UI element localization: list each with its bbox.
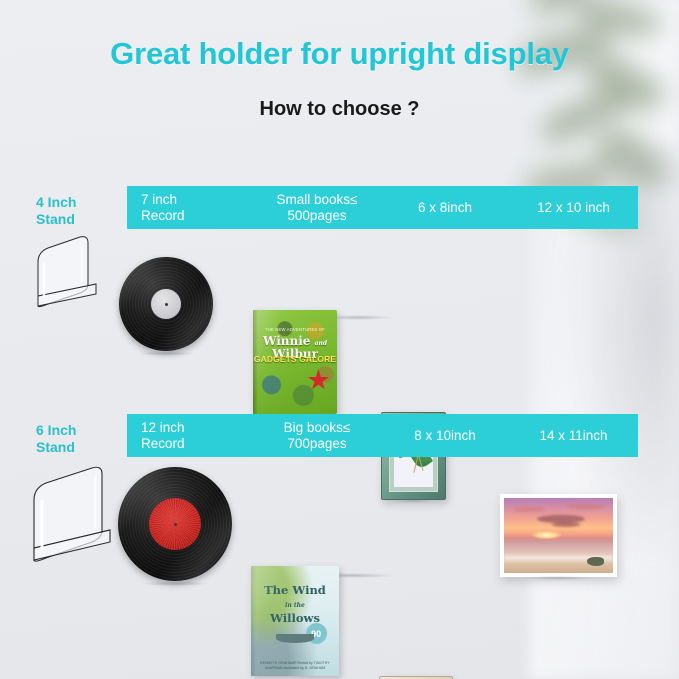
- bar-cell-line2: Record: [141, 208, 253, 224]
- product-shelf-6inch: The Wind in the Willows 90 KENNETH GRAHA…: [0, 466, 679, 591]
- row-label-line2: Stand: [36, 439, 75, 455]
- bar-cell-frame-4inch: 6 x 8inch: [381, 200, 509, 216]
- bar-cell-frame-6inch: 8 x 10inch: [381, 428, 509, 444]
- bar-cell-line1: Big books≤: [284, 420, 351, 435]
- bar-cell-book-4inch: Small books≤ 500pages: [253, 192, 381, 224]
- bar-cell-record-4inch: 7 inch Record: [127, 192, 253, 224]
- page-subtitle: How to choose ?: [0, 98, 679, 121]
- bar-cell-line1: 12 inch: [141, 420, 185, 435]
- bar-cell-line2: 500pages: [253, 208, 381, 224]
- bar-cell-line1: 8 x 10inch: [414, 428, 476, 443]
- bar-cell-photo-4inch: 12 x 10 inch: [509, 200, 638, 216]
- bar-cell-photo-6inch: 14 x 11inch: [509, 428, 638, 444]
- bar-cell-line1: 6 x 8inch: [418, 200, 472, 215]
- bar-cell-line2: Record: [141, 436, 253, 452]
- acrylic-stand-6inch: [10, 462, 679, 574]
- bar-cell-line2: 700pages: [253, 436, 381, 452]
- product-shelf-4inch: THE NEW ADVENTURES OF Winnie and Wilbur …: [0, 238, 679, 363]
- row-label-line1: 6 Inch: [36, 422, 76, 438]
- bar-cell-line1: 7 inch: [141, 192, 177, 207]
- row-label-line1: 4 Inch: [36, 194, 76, 210]
- vinyl-record-12inch: [118, 467, 232, 581]
- book-gloss: [251, 566, 339, 676]
- book-wind-in-the-willows: The Wind in the Willows 90 KENNETH GRAHA…: [251, 566, 339, 676]
- row-label-6inch-stand: 6 Inch Stand: [36, 422, 120, 456]
- category-bar-4inch: 7 inch Record Small books≤ 500pages 6 x …: [127, 186, 638, 229]
- book-gloss: [253, 310, 337, 414]
- row-label-4inch-stand: 4 Inch Stand: [36, 194, 120, 228]
- row-label-line2: Stand: [36, 211, 75, 227]
- page-title: Great holder for upright display: [0, 36, 679, 72]
- category-bar-6inch: 12 inch Record Big books≤ 700pages 8 x 1…: [127, 414, 638, 457]
- product-infographic: Great holder for upright display How to …: [0, 0, 679, 679]
- bar-cell-record-6inch: 12 inch Record: [127, 420, 253, 452]
- vinyl-record-7inch: [119, 257, 213, 351]
- bar-cell-line1: 12 x 10 inch: [537, 200, 610, 215]
- book-winnie-and-wilbur: THE NEW ADVENTURES OF Winnie and Wilbur …: [253, 310, 337, 414]
- bar-cell-book-6inch: Big books≤ 700pages: [253, 420, 381, 452]
- acrylic-stand-4inch: [18, 232, 679, 316]
- bar-cell-line1: Small books≤: [277, 192, 358, 207]
- bar-cell-line1: 14 x 11inch: [539, 428, 607, 443]
